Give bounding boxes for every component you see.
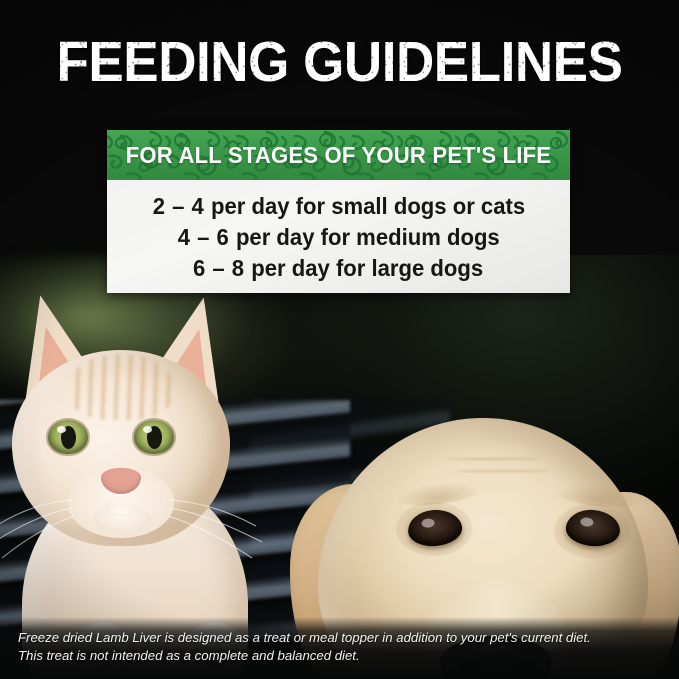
disclaimer-line-1: Freeze dried Lamb Liver is designed as a… (18, 629, 661, 647)
feeding-amounts-panel: 2 – 4per day for small dogs or cats 4 – … (107, 180, 570, 293)
dog-eye-glint-right (580, 517, 594, 527)
stages-banner: FOR ALL STAGES OF YOUR PET'S LIFE (107, 130, 570, 180)
feeding-row: 2 – 4per day for small dogs or cats (152, 191, 524, 222)
feeding-description: per day for large dogs (252, 255, 484, 281)
dog-eye-glint-left (421, 518, 435, 528)
page-title: FEEDING GUIDELINES (24, 34, 655, 91)
feeding-description: per day for medium dogs (236, 224, 500, 250)
feeding-guidelines-infographic: FEEDING GUIDELINES (0, 0, 679, 679)
feeding-row: 6 – 8per day for large dogs (193, 253, 483, 284)
stages-banner-label: FOR ALL STAGES OF YOUR PET'S LIFE (121, 130, 556, 180)
feeding-row: 4 – 6per day for medium dogs (177, 222, 499, 253)
disclaimer-line-2: This treat is not intended as a complete… (18, 647, 661, 665)
kitten-eye-glint-left (57, 426, 66, 433)
pet-photo-background (0, 0, 679, 679)
kitten-eye-right (134, 420, 174, 454)
disclaimer-bar: Freeze dried Lamb Liver is designed as a… (0, 617, 679, 679)
dog-forehead-wrinkle-2 (456, 470, 548, 472)
dog-forehead-wrinkle-1 (448, 458, 540, 460)
feeding-range: 6 – 8 (193, 255, 245, 281)
kitten-eye-glint-right (143, 426, 152, 433)
kitten-chin (93, 504, 151, 534)
feeding-description: per day for small dogs or cats (211, 193, 525, 219)
kitten-eye-left (48, 420, 88, 454)
kitten-forehead-stripes (68, 354, 174, 420)
feeding-guidelines-card: FOR ALL STAGES OF YOUR PET'S LIFE 2 – 4p… (107, 130, 570, 293)
feeding-range: 4 – 6 (177, 224, 229, 250)
feeding-range: 2 – 4 (152, 193, 204, 219)
